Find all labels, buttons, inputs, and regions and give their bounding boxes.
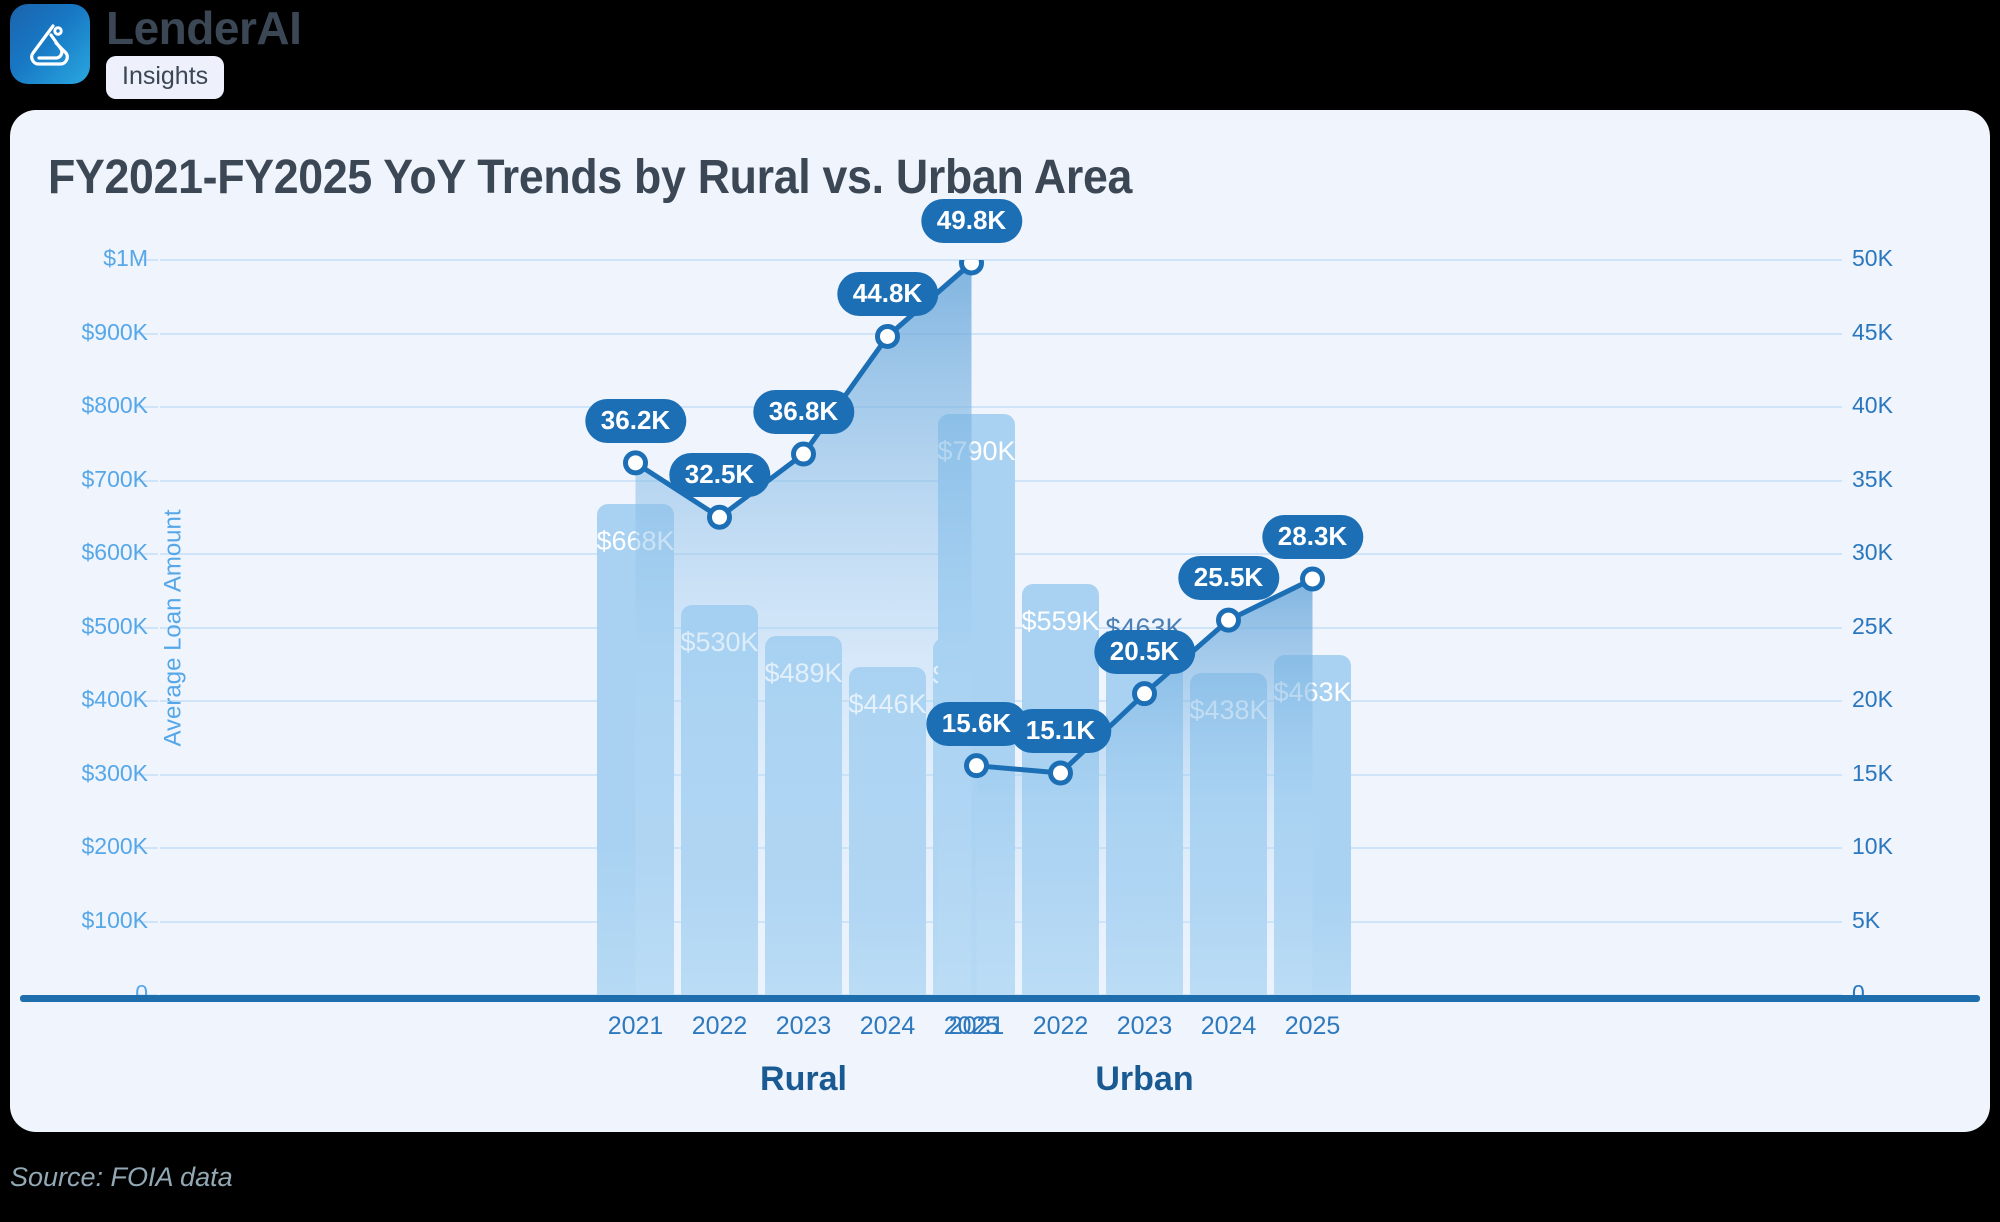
data-point-marker[interactable] xyxy=(962,260,982,273)
data-point-label: 25.5K xyxy=(1178,556,1279,600)
data-point-marker[interactable] xyxy=(1219,610,1239,630)
y-axis-right-tick-label: 35K xyxy=(1852,466,1893,493)
data-point-marker[interactable] xyxy=(710,507,730,527)
y-axis-left-tick-label: $1M xyxy=(103,245,148,272)
y-axis-left-title: Average Loan Amount xyxy=(160,509,188,746)
source-note: Source: FOIA data xyxy=(10,1162,233,1193)
data-point-marker[interactable] xyxy=(626,453,646,473)
y-axis-right-tick-label: 20K xyxy=(1852,686,1893,713)
data-point-marker[interactable] xyxy=(1051,763,1071,783)
chart-card: FY2021-FY2025 YoY Trends by Rural vs. Ur… xyxy=(10,110,1990,1132)
data-point-marker[interactable] xyxy=(1303,569,1323,589)
y-axis-right-tick-label: 50K xyxy=(1852,245,1893,272)
group-label-rural: Rural xyxy=(654,1060,954,1099)
y-axis-left-tick-label: 0 xyxy=(135,980,148,1007)
data-point-label: 32.5K xyxy=(669,453,770,497)
brand-badge: Insights xyxy=(106,56,224,99)
y-axis-left-tick-label: $300K xyxy=(81,760,148,787)
x-axis-line xyxy=(20,995,1980,1002)
lender-loop-triangle-icon xyxy=(10,4,90,84)
data-point-label: 36.2K xyxy=(585,399,686,443)
y-axis-right-tick-label: 15K xyxy=(1852,760,1893,787)
y-axis-right-tick-label: 30K xyxy=(1852,539,1893,566)
data-point-label: 49.8K xyxy=(921,199,1022,243)
y-axis-left-tick-label: $600K xyxy=(81,539,148,566)
data-point-marker[interactable] xyxy=(794,444,814,464)
data-point-label: 28.3K xyxy=(1262,515,1363,559)
data-point-label: 15.1K xyxy=(1010,709,1111,753)
y-axis-left-tick-label: $200K xyxy=(81,833,148,860)
y-axis-right-tick-label: 5K xyxy=(1852,907,1880,934)
data-point-label: 36.8K xyxy=(753,390,854,434)
page-title: FY2021-FY2025 YoY Trends by Rural vs. Ur… xyxy=(48,150,1132,205)
group-label-urban: Urban xyxy=(995,1060,1295,1099)
data-point-label: 20.5K xyxy=(1094,630,1195,674)
data-point-marker[interactable] xyxy=(878,326,898,346)
brand-name: LenderAI xyxy=(106,2,301,54)
y-axis-left-tick-label: $400K xyxy=(81,686,148,713)
y-axis-left-tick-label: $500K xyxy=(81,613,148,640)
y-axis-right-tick-label: 25K xyxy=(1852,613,1893,640)
y-axis-left-tick-label: $100K xyxy=(81,907,148,934)
brand-header: LenderAI Insights xyxy=(10,4,301,99)
y-axis-right-tick-label: 40K xyxy=(1852,392,1893,419)
x-axis-tick-label: 2025 xyxy=(1258,1012,1368,1041)
y-axis-left-tick-label: $800K xyxy=(81,392,148,419)
y-axis-right-tick-label: 45K xyxy=(1852,319,1893,346)
y-axis-left-tick-label: $900K xyxy=(81,319,148,346)
y-axis-right-tick-label: 0 xyxy=(1852,980,1865,1007)
y-axis-left-tick-label: $700K xyxy=(81,466,148,493)
line-series-layer xyxy=(160,260,1840,995)
y-axis-right-tick-label: 10K xyxy=(1852,833,1893,860)
chart-plot-area: 0$100K$200K$300K$400K$500K$600K$700K$800… xyxy=(160,260,1840,995)
data-point-marker[interactable] xyxy=(1135,684,1155,704)
line-area-fill xyxy=(636,263,972,995)
data-point-marker[interactable] xyxy=(967,756,987,776)
data-point-label: 44.8K xyxy=(837,272,938,316)
